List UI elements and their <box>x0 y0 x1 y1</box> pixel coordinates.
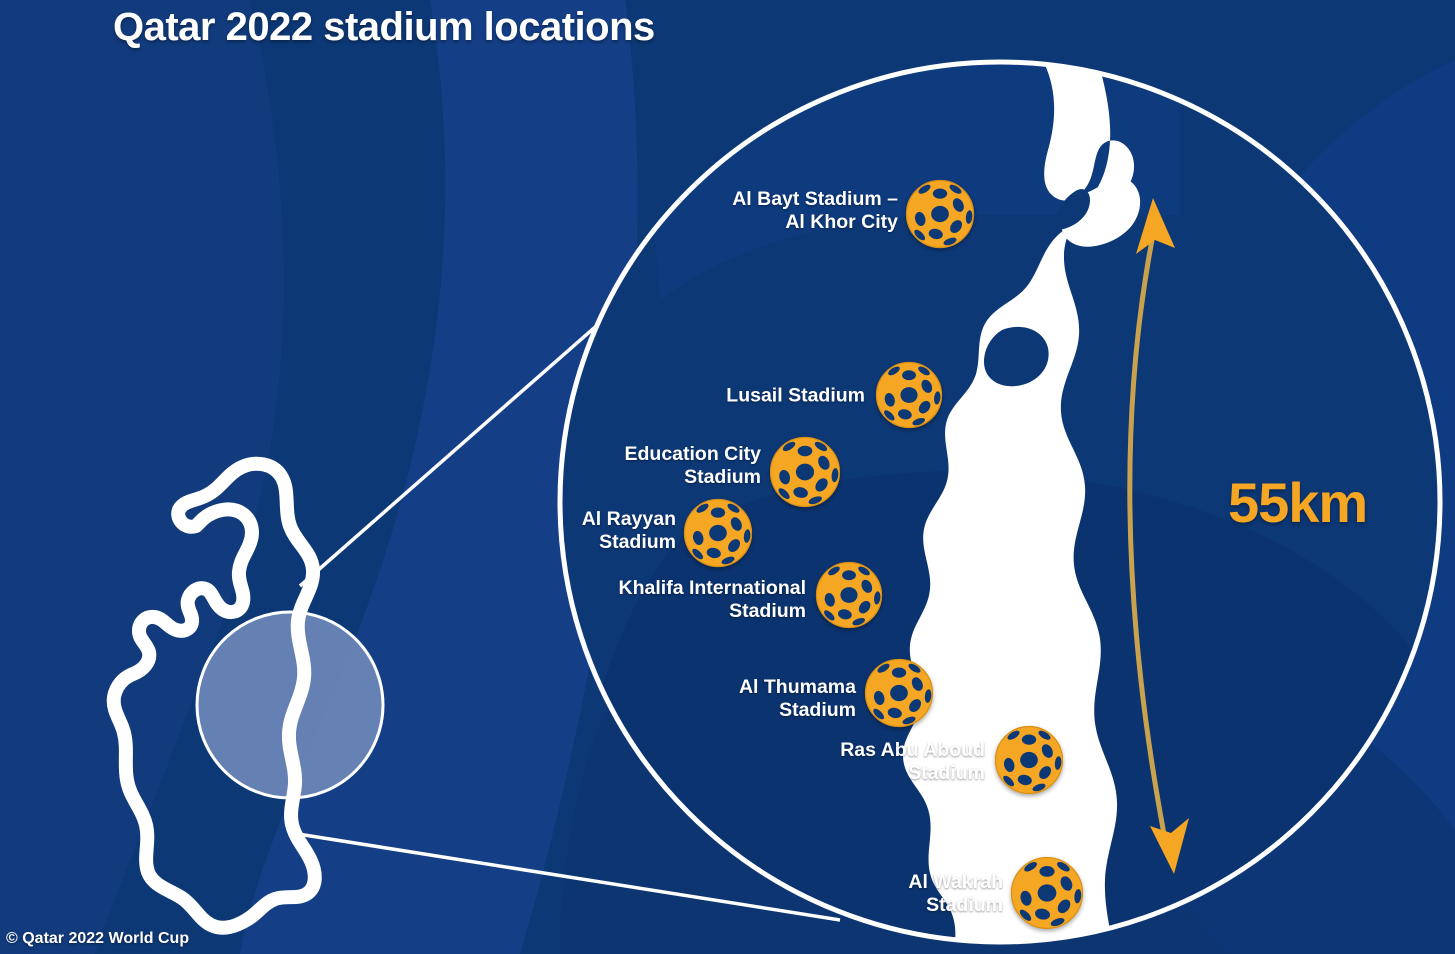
credit-text: © Qatar 2022 World Cup <box>6 930 189 948</box>
distance-label: 55km <box>1228 470 1367 535</box>
stadium-label-al-thumama: Al Thumama Stadium <box>739 676 856 722</box>
stadium-label-khalifa-international: Khalifa International Stadium <box>619 577 806 623</box>
stadium-ball-al-wakrah[interactable] <box>1011 857 1083 929</box>
stadium-ball-al-rayyan[interactable] <box>684 499 752 567</box>
stadium-label-al-wakrah: Al Wakrah Stadium <box>908 871 1003 917</box>
stadium-ball-lusail[interactable] <box>876 362 942 428</box>
stadium-label-al-rayyan: Al Rayyan Stadium <box>582 508 676 554</box>
stadium-label-lusail: Lusail Stadium <box>726 385 865 408</box>
infographic-root: Qatar 2022 stadium locations 55km © Qata… <box>0 0 1455 954</box>
stadium-ball-al-bayt[interactable] <box>906 180 974 248</box>
page-title: Qatar 2022 stadium locations <box>113 5 655 50</box>
stadium-ball-ras-abu-aboud[interactable] <box>995 726 1063 794</box>
stadium-ball-khalifa-international[interactable] <box>816 562 882 628</box>
stadium-label-education-city: Education City Stadium <box>624 443 761 489</box>
stadium-ball-al-thumama[interactable] <box>865 659 933 727</box>
stadium-label-ras-abu-aboud: Ras Abu Aboud Stadium <box>840 739 985 785</box>
stadium-ball-education-city[interactable] <box>770 437 840 507</box>
stadium-label-al-bayt: Al Bayt Stadium – Al Khor City <box>732 188 898 234</box>
